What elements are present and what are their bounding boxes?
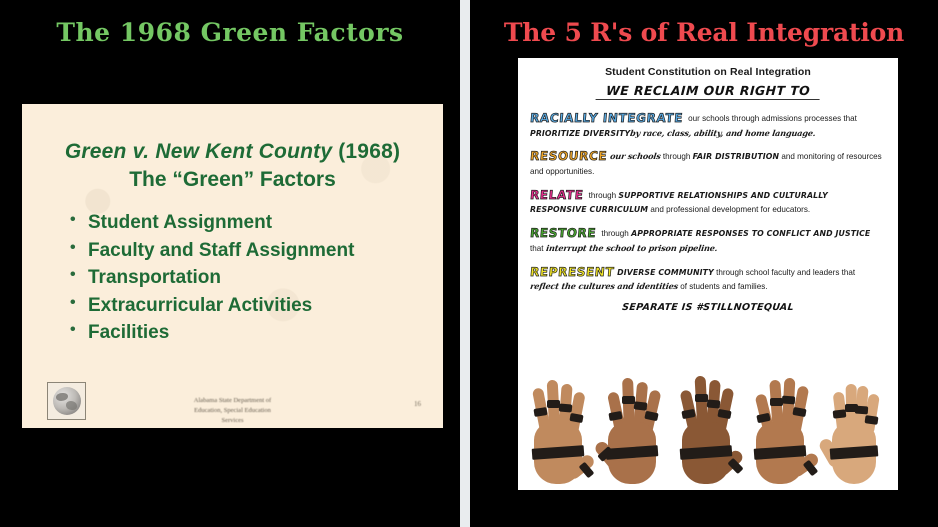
r-body: through school faculty and leaders that [714, 268, 855, 277]
r-body-2: and professional development for educato… [648, 205, 810, 214]
r-keyword: RESTORE [529, 225, 597, 243]
case-year: (1968) [332, 140, 400, 163]
document-tagline: SEPARATE IS #STILLNOTEQUAL [529, 302, 886, 313]
slide-footer: Alabama State Department of Education, S… [22, 372, 443, 428]
r-item-restore: RESTORE through APPROPRIATE RESPONSES TO… [530, 225, 886, 254]
r-item-resource: RESOURCEour schools through FAIR DISTRIB… [530, 148, 886, 177]
r-body-2: of students and families. [678, 282, 768, 291]
r-emphasis: APPROPRIATE RESPONSES TO CONFLICT AND JU… [631, 229, 870, 238]
r-body: through [586, 191, 618, 200]
r-script: by race, class, ability, and home langua… [629, 128, 816, 140]
r-body: our schools through admissions processes… [686, 114, 857, 123]
r-keyword: RESOURCE [529, 148, 608, 166]
page-number: 16 [414, 400, 421, 408]
r-emphasis: FAIR DISTRIBUTION [693, 152, 780, 161]
r-keyword: RACIALLY INTEGRATE [529, 110, 683, 128]
list-item: Extracurricular Activities [70, 292, 443, 319]
document-subtitle: WE RECLAIM OUR RIGHT TO [596, 83, 821, 100]
list-item: Faculty and Staff Assignment [70, 237, 443, 264]
r-keyword: RELATE [529, 187, 584, 205]
left-slide-panel: The 1968 Green Factors Green v. New Kent… [0, 0, 460, 527]
green-factors-slide: Green v. New Kent County (1968) The “Gre… [22, 104, 443, 428]
r-body: through [661, 152, 693, 161]
document-title: Student Constitution on Real Integration [530, 66, 886, 78]
r-item-racially-integrate: RACIALLY INTEGRATE our schools through a… [530, 110, 886, 139]
list-item: Student Assignment [70, 209, 443, 236]
r-item-relate: RELATE through SUPPORTIVE RELATIONSHIPS … [530, 187, 886, 216]
hands-illustration [522, 364, 894, 484]
left-panel-title: The 1968 Green Factors [0, 18, 460, 47]
hand-3 [674, 372, 742, 484]
case-name: Green v. New Kent County [65, 140, 332, 163]
panel-divider [460, 0, 470, 527]
list-item: Facilities [70, 319, 443, 346]
r-body: through [599, 229, 631, 238]
hand-2 [600, 372, 668, 484]
slide-comparison-stage: The 1968 Green Factors Green v. New Kent… [0, 0, 938, 527]
hand-5 [822, 372, 890, 484]
right-panel-title: The 5 R's of Real Integration [470, 18, 938, 47]
slide-heading: Green v. New Kent County (1968) The “Gre… [22, 140, 443, 193]
r-keyword: REPRESENT [529, 264, 615, 282]
slide-heading-line1: Green v. New Kent County (1968) [22, 140, 443, 164]
student-constitution-document: Student Constitution on Real Integration… [518, 58, 898, 490]
r-item-represent: REPRESENTDIVERSE COMMUNITY through schoo… [530, 264, 886, 293]
r-emphasis: PRIORITIZE DIVERSITY [530, 129, 630, 138]
slide-heading-line2: The “Green” Factors [22, 166, 443, 193]
right-slide-panel: The 5 R's of Real Integration Student Co… [470, 0, 938, 527]
r-body-2: that [530, 244, 546, 253]
hand-1 [526, 372, 594, 484]
r-script: our schools [609, 151, 661, 163]
list-item: Transportation [70, 264, 443, 291]
green-factors-list: Student Assignment Faculty and Staff Ass… [22, 209, 443, 346]
r-script: interrupt the school to prison pipeline. [545, 243, 718, 255]
footer-attribution: Alabama State Department of Education, S… [22, 396, 443, 426]
r-script: reflect the cultures and identities [529, 281, 679, 293]
r-emphasis: DIVERSE COMMUNITY [617, 268, 714, 277]
hand-4 [748, 372, 816, 484]
